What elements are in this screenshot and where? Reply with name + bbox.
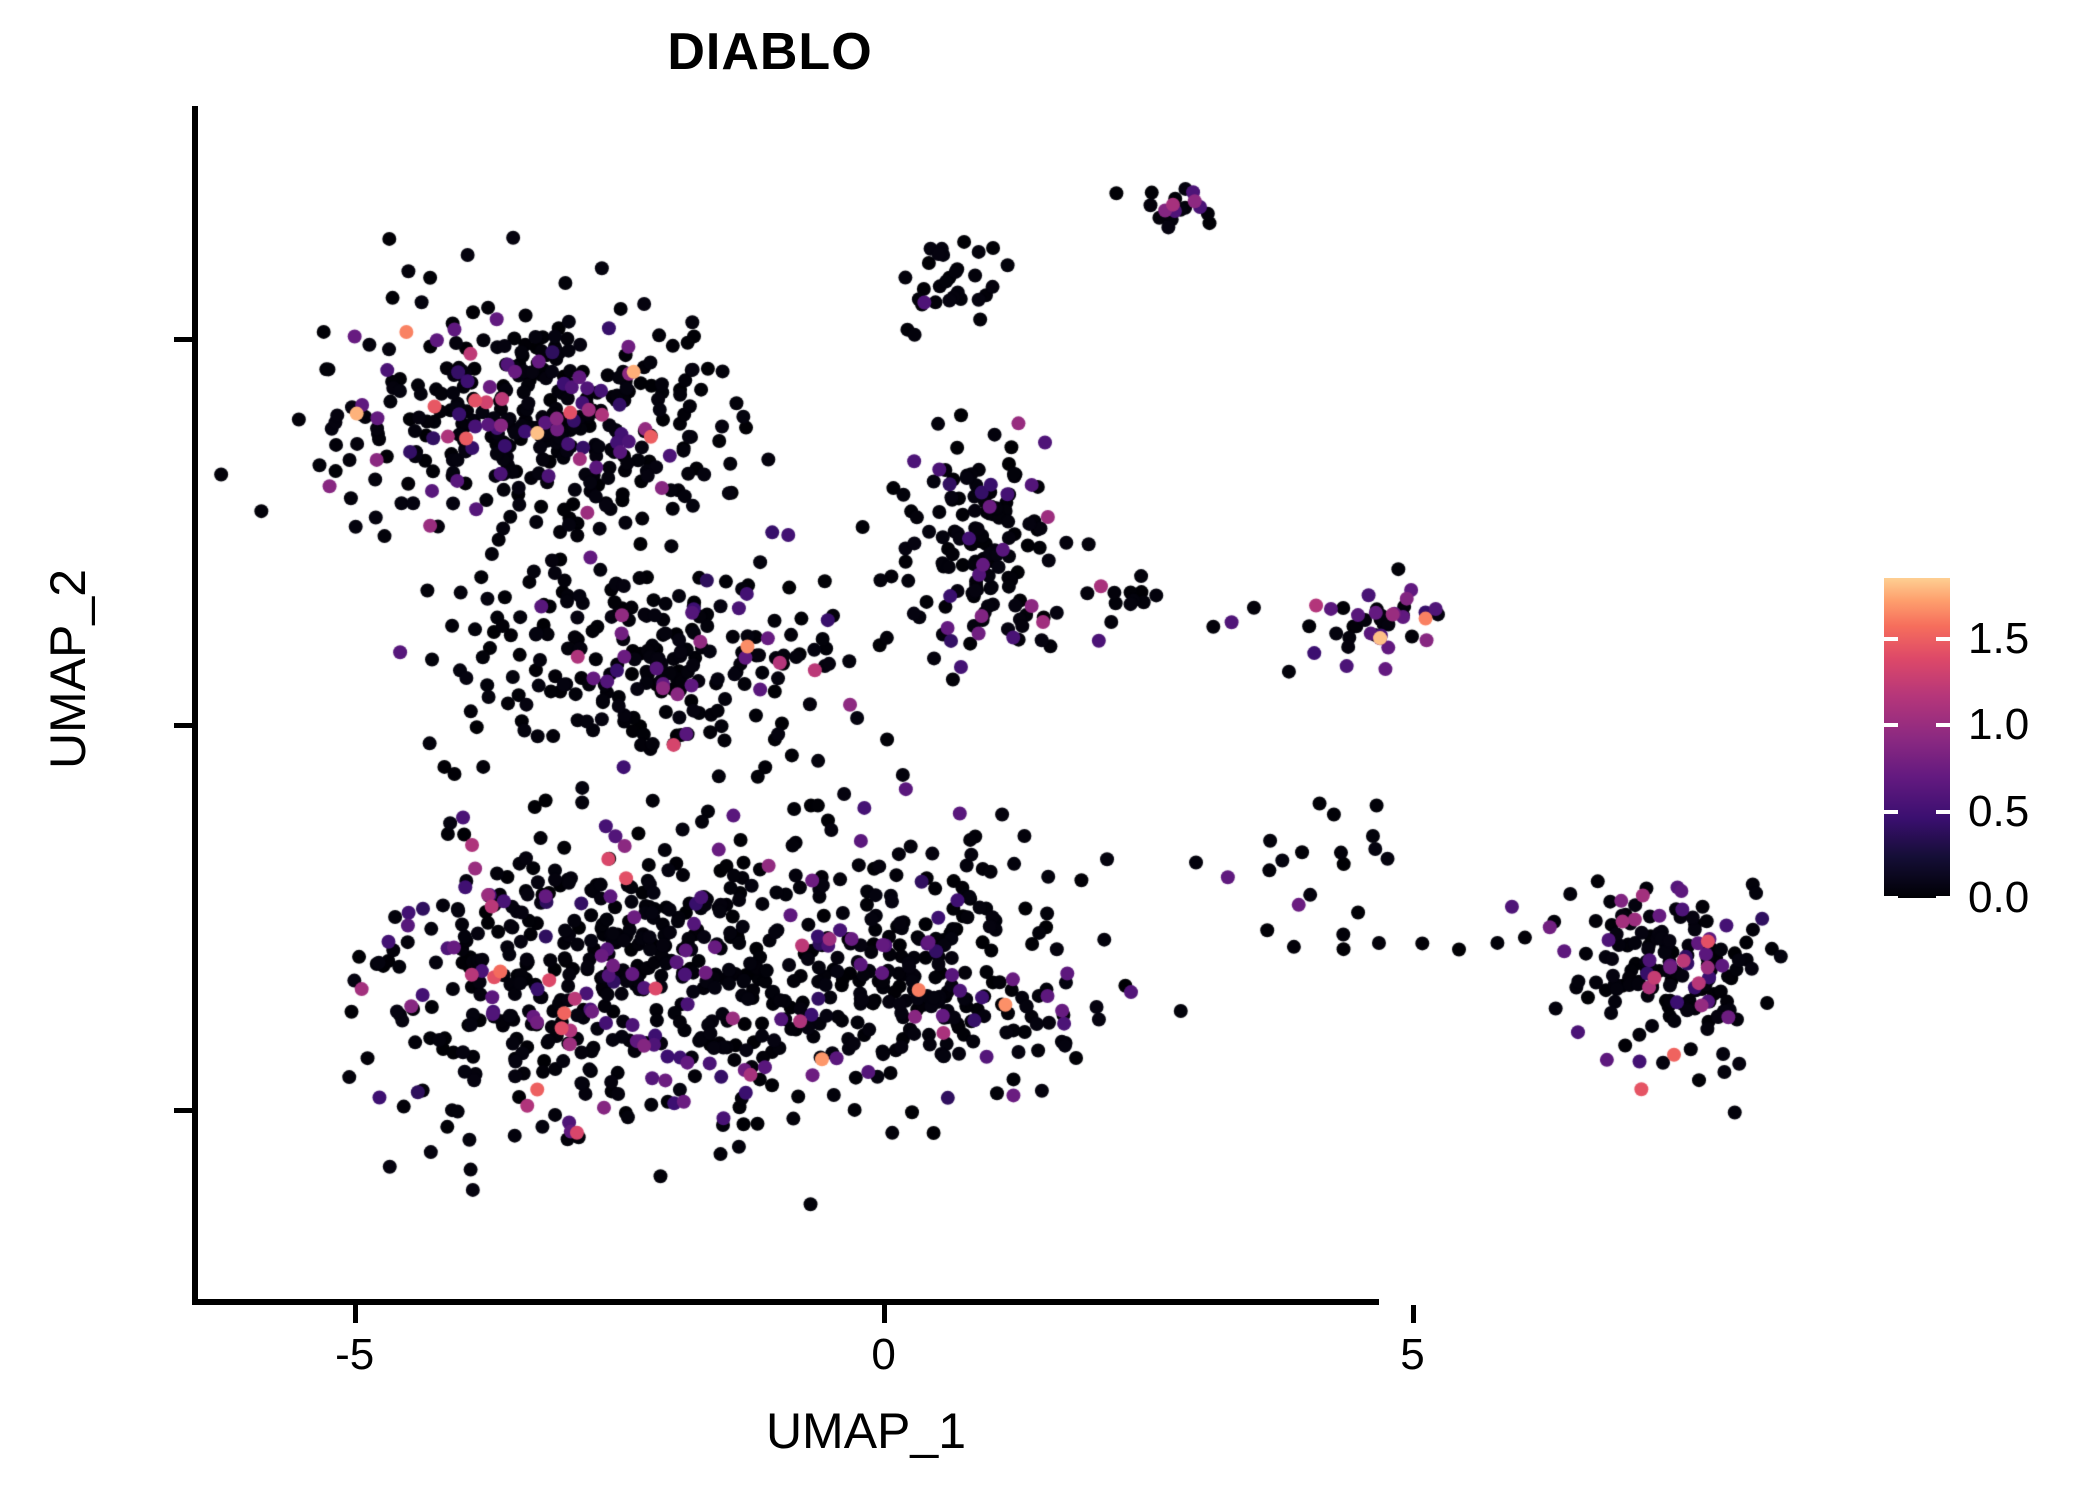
colorbar-tick-mark [1884,896,1898,900]
x-tick-label: 0 [871,1330,895,1380]
plot-panel [196,108,1878,1303]
colorbar-tick-label: 0.5 [1968,787,2029,837]
x-tick-mark [882,1305,887,1323]
umap-figure: DIABLO -404-505 UMAP_1 UMAP_2 0.00.51.01… [0,0,2100,1500]
scatter-plot-canvas [196,108,1878,1303]
x-tick-mark [1411,1305,1416,1323]
colorbar-tick-mark [1936,637,1950,641]
x-axis-title: UMAP_1 [196,1402,1536,1460]
page-title: DIABLO [0,22,1540,82]
colorbar-tick-mark [1884,810,1898,814]
y-axis-line [192,106,198,1305]
x-tick-label: 5 [1400,1330,1424,1380]
colorbar-tick-label: 0.0 [1968,873,2029,923]
colorbar-tick-label: 1.0 [1968,700,2029,750]
y-tick-mark [174,723,192,728]
colorbar-tick-mark [1884,723,1898,727]
colorbar-tick-mark [1884,637,1898,641]
colorbar-tick-mark [1936,810,1950,814]
y-tick-mark [174,1108,192,1113]
x-axis-line [192,1299,1379,1305]
x-tick-label: -5 [335,1330,374,1380]
colorbar-tick-mark [1936,723,1950,727]
x-tick-mark [353,1305,358,1323]
colorbar-gradient [1884,578,1950,898]
y-tick-mark [174,337,192,342]
colorbar-legend: 0.00.51.01.5 [1884,578,2100,908]
colorbar-tick-mark [1936,896,1950,900]
y-axis-title: UMAP_2 [39,319,97,1019]
colorbar-tick-label: 1.5 [1968,614,2029,664]
